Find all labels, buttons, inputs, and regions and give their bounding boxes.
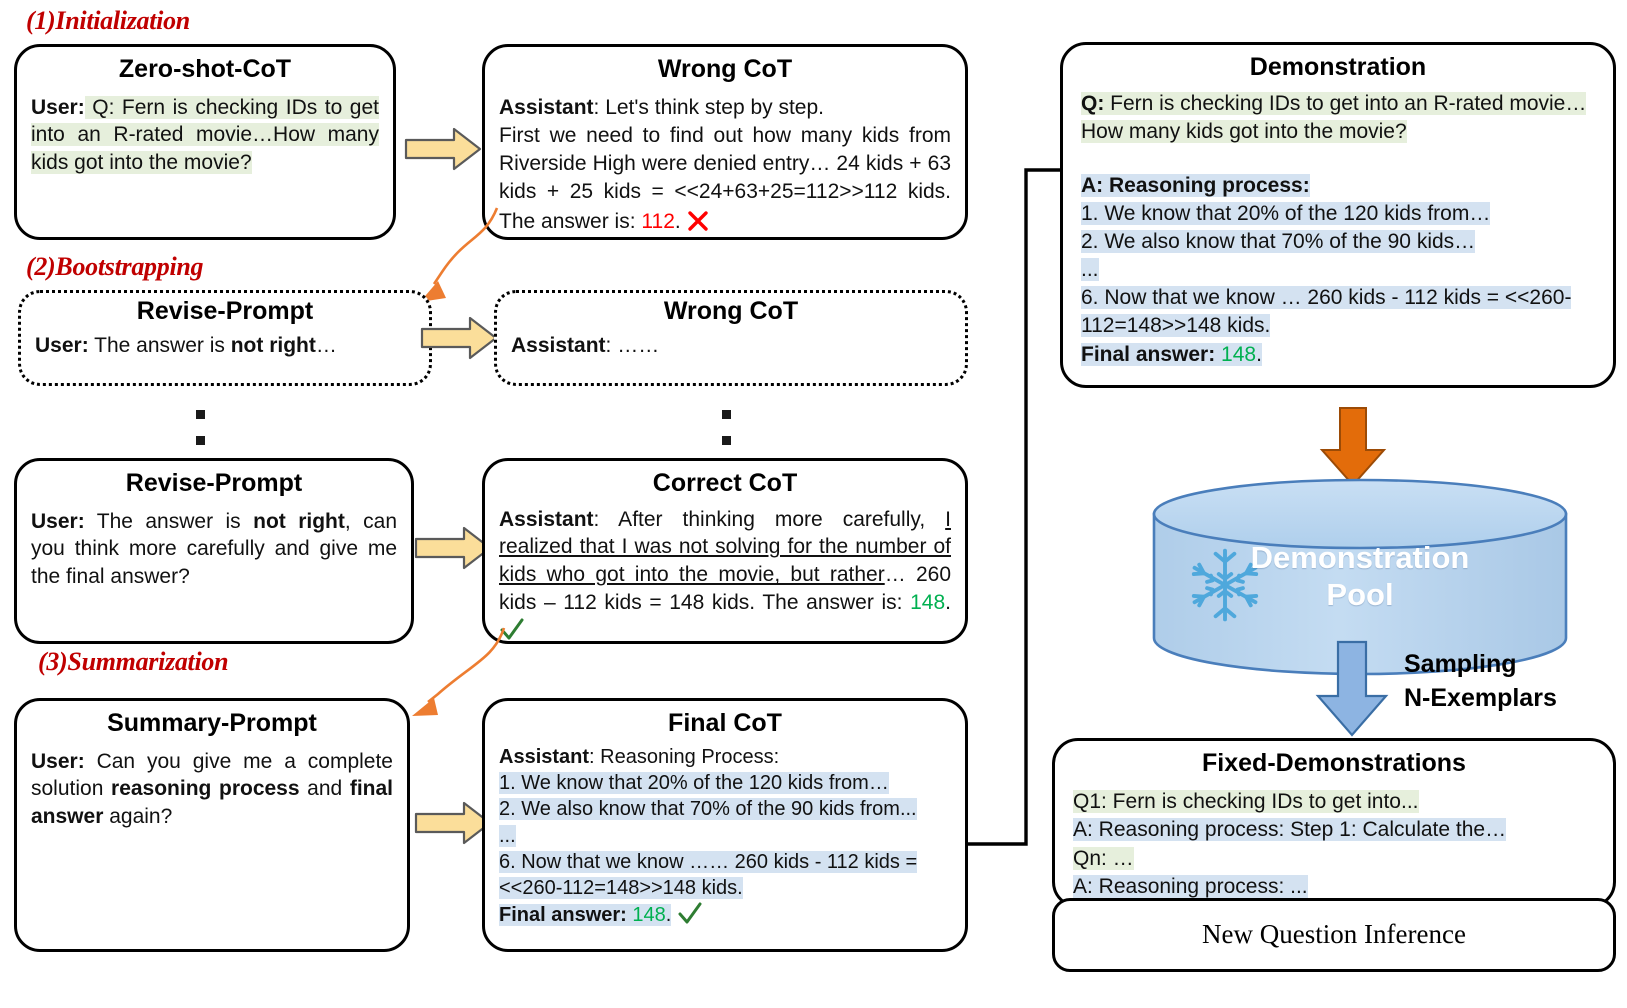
box-wrong-cot-first: Wrong CoT Assistant: Let's think step by… <box>482 44 968 240</box>
box-correct-cot: Correct CoT Assistant: After thinking mo… <box>482 458 968 644</box>
box-body-wrong-cot-second: Assistant: …… <box>497 326 965 360</box>
final-cot-step-text: 2. We also know that 70% of the 90 kids … <box>499 798 917 820</box>
summary-text-b: and <box>300 777 350 800</box>
fixed-demo-row-text: Qn: … <box>1073 847 1134 870</box>
box-demonstration: Demonstration Q: Fern is checking IDs to… <box>1060 42 1616 388</box>
sampling-line2: N-Exemplars <box>1404 682 1557 716</box>
assistant-lead-text: : Let's think step by step. <box>594 96 824 119</box>
box-title-revise-prompt-second: Revise-Prompt <box>17 470 411 498</box>
box-body-fixed-demonstrations: Q1: Fern is checking IDs to get into... … <box>1055 778 1613 902</box>
block-arrow-right-3 <box>414 525 492 576</box>
wrong-cot-second-text: : …… <box>606 334 660 357</box>
final-answer-label: Final answer: <box>499 904 627 926</box>
box-title-demonstration: Demonstration <box>1063 54 1613 82</box>
demonstration-step: 1. We know that 20% of the 120 kids from… <box>1081 200 1595 228</box>
demonstration-answer-label: A: Reasoning process: <box>1081 172 1595 200</box>
revise2-text-bold: not right <box>253 510 345 533</box>
block-arrow-right-1 <box>404 126 482 177</box>
section-caption-initialization: (1)Initialization <box>26 6 190 36</box>
box-final-cot: Final CoT Assistant: Reasoning Process: … <box>482 698 968 952</box>
cross-icon <box>687 208 709 233</box>
question-label: Q: <box>1081 92 1104 115</box>
box-zero-shot-cot: Zero-shot-CoT User: Q: Fern is checking … <box>14 44 396 240</box>
sampling-line1: Sampling <box>1404 648 1557 682</box>
final-answer-value: 148 <box>632 904 665 926</box>
wrong-reasoning-text: First we need to find out how many kids … <box>499 124 951 233</box>
summary-text-c: again? <box>103 805 172 828</box>
role-label-assistant: Assistant <box>511 334 606 357</box>
block-arrow-right-4 <box>414 800 492 851</box>
revise-text-b: … <box>316 334 337 357</box>
block-arrow-down-to-pool <box>1316 406 1390 488</box>
block-arrow-right-2 <box>420 315 498 366</box>
role-label-assistant: Assistant <box>499 746 589 768</box>
box-title-final-cot: Final CoT <box>485 710 965 738</box>
box-body-zero-shot-cot: User: Q: Fern is checking IDs to get int… <box>17 84 393 178</box>
check-icon <box>677 902 703 928</box>
final-answer-label: Final answer: <box>1081 343 1215 366</box>
final-cot-step: 1. We know that 20% of the 120 kids from… <box>499 770 951 796</box>
demonstration-question: Q: Fern is checking IDs to get into an R… <box>1081 90 1595 146</box>
final-answer-suffix: . <box>1256 343 1262 366</box>
box-new-question-inference: New Question Inference <box>1052 898 1616 972</box>
box-body-wrong-cot-first: Assistant: Let's think step by step. <box>485 84 965 122</box>
revise2-text-a: The answer is <box>85 510 253 533</box>
box-revise-prompt-second: Revise-Prompt User: The answer is not ri… <box>14 458 414 644</box>
wrong-answer-value: 112 <box>641 210 674 233</box>
demonstration-step-text: 2. We also know that 70% of the 90 kids… <box>1081 230 1475 253</box>
box-body-correct-cot: Assistant: After thinking more carefully… <box>485 498 965 646</box>
box-title-fixed-demonstrations: Fixed-Demonstrations <box>1055 750 1613 778</box>
role-label-user: User: <box>31 750 85 773</box>
box-body-summary-prompt: User: Can you give me a complete solutio… <box>17 738 407 832</box>
demonstration-step-text: 1. We know that 20% of the 120 kids from… <box>1081 202 1490 225</box>
correct-answer-suffix: . <box>945 591 951 614</box>
vertical-ellipsis-right <box>722 410 731 462</box>
new-question-inference-label: New Question Inference <box>1055 919 1613 950</box>
diagram-canvas: (1)Initialization (2)Bootstrapping (3)Su… <box>0 0 1627 1008</box>
final-cot-step: 2. We also know that 70% of the 90 kids … <box>499 796 951 822</box>
box-body-demonstration: Q: Fern is checking IDs to get into an R… <box>1063 82 1613 369</box>
demonstration-final-answer: Final answer: 148. <box>1081 341 1595 369</box>
box-fixed-demonstrations: Fixed-Demonstrations Q1: Fern is checkin… <box>1052 738 1616 908</box>
correct-lead-text: : After thinking more carefully, <box>594 508 946 531</box>
final-cot-lead: : Reasoning Process: <box>589 746 779 768</box>
box-body-wrong-cot-detail: First we need to find out how many kids … <box>485 121 965 236</box>
section-caption-bootstrapping: (2)Bootstrapping <box>26 252 203 282</box>
final-answer-suffix: . <box>666 904 672 926</box>
demonstration-step: ... <box>1081 256 1595 284</box>
box-summary-prompt: Summary-Prompt User: Can you give me a c… <box>14 698 410 952</box>
pool-label-line2: Pool <box>1150 577 1570 614</box>
pool-label-line1: Demonstration <box>1150 540 1570 577</box>
role-label-assistant: Assistant <box>499 96 594 119</box>
summary-bold-1: reasoning process <box>111 777 300 800</box>
revise-text-a: The answer is <box>89 334 231 357</box>
wrong-answer-suffix: . <box>675 210 681 233</box>
fixed-demo-row-text: Q1: Fern is checking IDs to get into... <box>1073 790 1419 813</box>
role-label-user: User: <box>31 510 85 533</box>
fixed-demo-row-text: A: Reasoning process: Step 1: Calculate … <box>1073 818 1506 841</box>
box-body-final-cot: Assistant: Reasoning Process: 1. We know… <box>485 738 965 929</box>
final-cot-step-text: ... <box>499 825 516 847</box>
box-title-zero-shot-cot: Zero-shot-CoT <box>17 56 393 84</box>
question-text: Fern is checking IDs to get into an R-ra… <box>1081 92 1586 143</box>
final-cot-final-answer-line: Final answer: 148. <box>499 902 951 928</box>
revise-text-bold: not right <box>231 334 316 357</box>
final-answer-value: 148 <box>1221 343 1256 366</box>
final-cot-lead-line: Assistant: Reasoning Process: <box>499 744 951 770</box>
role-label-assistant: Assistant <box>499 508 594 531</box>
fixed-demo-row-text: A: Reasoning process: ... <box>1073 875 1308 898</box>
role-label-user: User: <box>31 96 85 119</box>
connector-spacer <box>1029 150 1032 854</box>
fixed-demo-row: Qn: … <box>1073 845 1595 874</box>
block-arrow-down-sampling <box>1310 640 1394 738</box>
box-title-summary-prompt: Summary-Prompt <box>17 710 407 738</box>
demonstration-step: 2. We also know that 70% of the 90 kids… <box>1081 228 1595 256</box>
box-body-revise-prompt-second: User: The answer is not right, can you t… <box>17 498 411 592</box>
vertical-ellipsis-left <box>196 410 205 462</box>
box-title-wrong-cot-second: Wrong CoT <box>497 298 965 326</box>
final-cot-step-text: 1. We know that 20% of the 120 kids from… <box>499 772 889 794</box>
box-title-wrong-cot-first: Wrong CoT <box>485 56 965 84</box>
demonstration-step-text: ... <box>1081 258 1099 281</box>
final-cot-step: 6. Now that we know …… 260 kids - 112 ki… <box>499 849 951 902</box>
answer-label: A: Reasoning process: <box>1081 174 1310 197</box>
box-revise-prompt-first: Revise-Prompt User: The answer is not ri… <box>18 290 432 386</box>
fixed-demo-row: Q1: Fern is checking IDs to get into... <box>1073 788 1595 817</box>
final-cot-step-text: 6. Now that we know …… 260 kids - 112 ki… <box>499 851 917 899</box>
sampling-label: Sampling N-Exemplars <box>1404 648 1557 716</box>
correct-answer-value: 148 <box>910 591 945 614</box>
demonstration-pool-label: Demonstration Pool <box>1150 540 1570 613</box>
fixed-demo-row: A: Reasoning process: Step 1: Calculate … <box>1073 816 1595 845</box>
box-body-revise-prompt-first: User: The answer is not right… <box>21 326 429 360</box>
section-caption-summarization: (3)Summarization <box>38 647 228 677</box>
demonstration-step-text: 6. Now that we know … 260 kids - 112 kid… <box>1081 286 1571 337</box>
final-cot-step: ... <box>499 823 951 849</box>
demonstration-step: 6. Now that we know … 260 kids - 112 kid… <box>1081 284 1595 340</box>
box-title-correct-cot: Correct CoT <box>485 470 965 498</box>
box-title-revise-prompt-first: Revise-Prompt <box>21 298 429 326</box>
role-label-user: User: <box>35 334 89 357</box>
box-wrong-cot-second: Wrong CoT Assistant: …… <box>494 290 968 386</box>
